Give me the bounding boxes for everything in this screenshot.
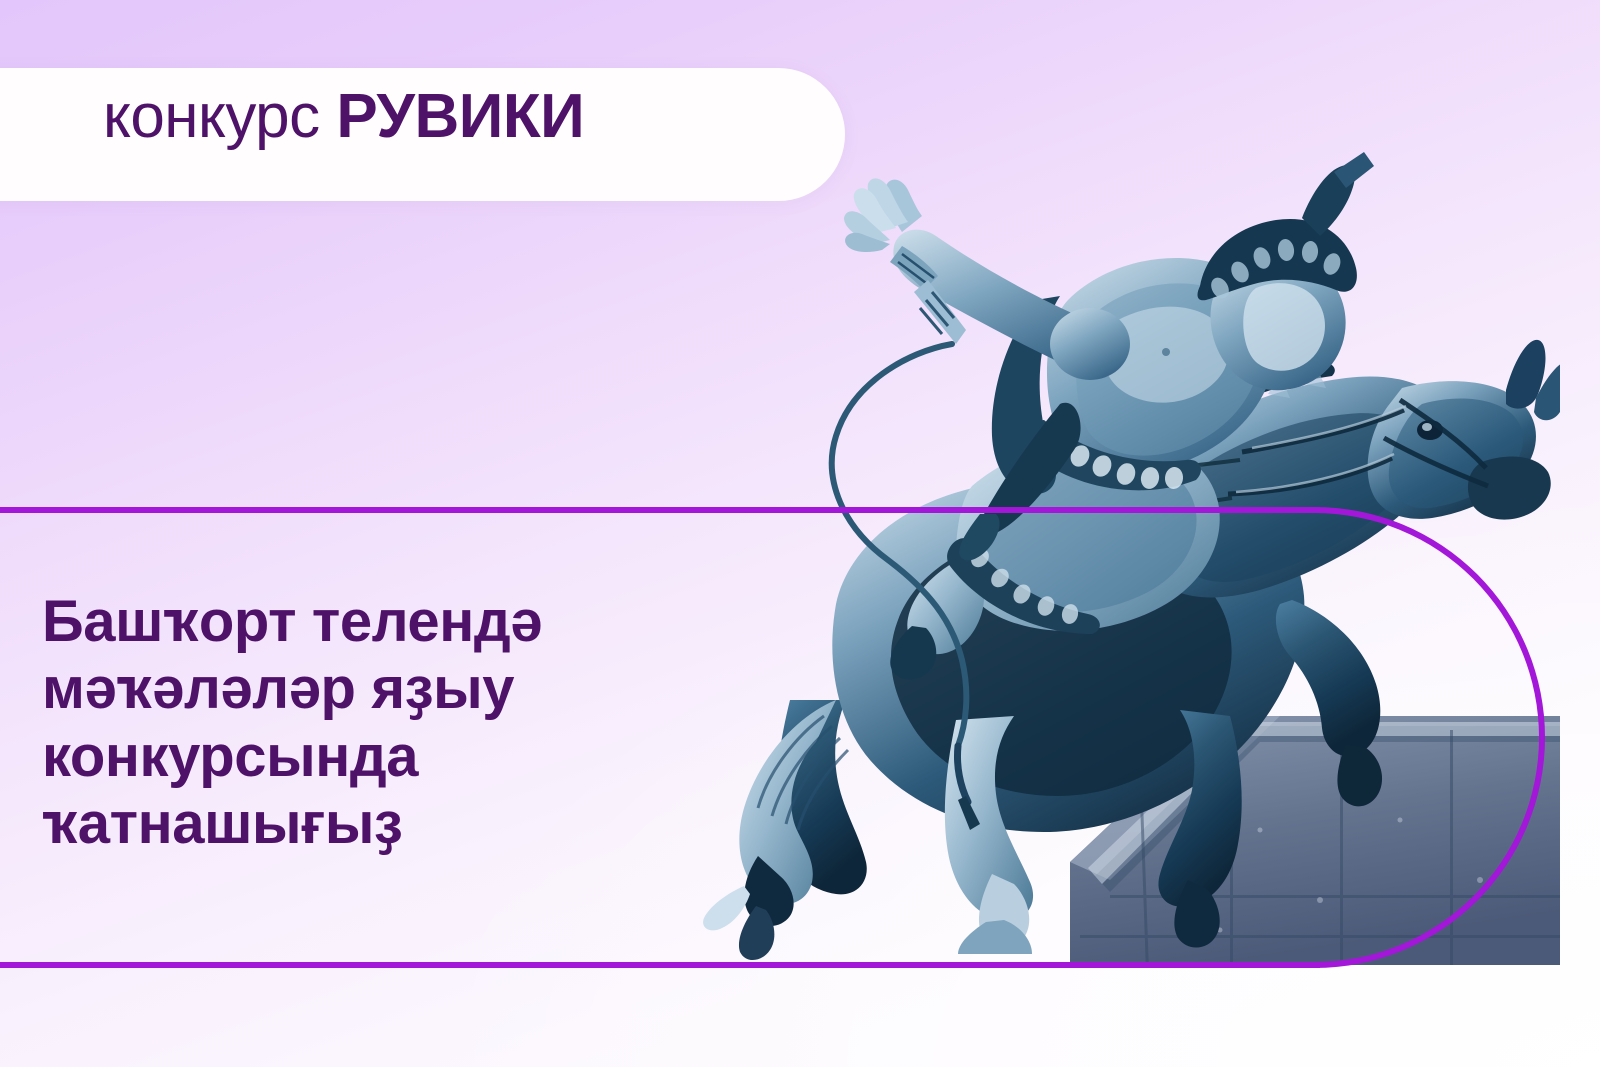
headline-line-1: Башҡорт телендә bbox=[42, 588, 742, 655]
bottom-purple-rule bbox=[0, 962, 1320, 968]
poster-canvas: конкурс РУВИКИ Башҡорт телендә мәҡәләләр… bbox=[0, 0, 1600, 1067]
top-purple-rule bbox=[0, 507, 1320, 513]
headline: Башҡорт телендә мәҡәләләр яҙыу конкурсын… bbox=[42, 588, 742, 857]
headline-line-4: ҡатнашығыҙ bbox=[42, 790, 742, 857]
badge-text-upper: РУВИКИ bbox=[336, 82, 584, 151]
badge-text-lower: конкурс bbox=[103, 82, 336, 151]
headline-line-2: мәҡәләләр яҙыу bbox=[42, 655, 742, 722]
badge-text: конкурс РУВИКИ bbox=[103, 86, 584, 148]
headline-line-3: конкурсында bbox=[42, 723, 742, 790]
